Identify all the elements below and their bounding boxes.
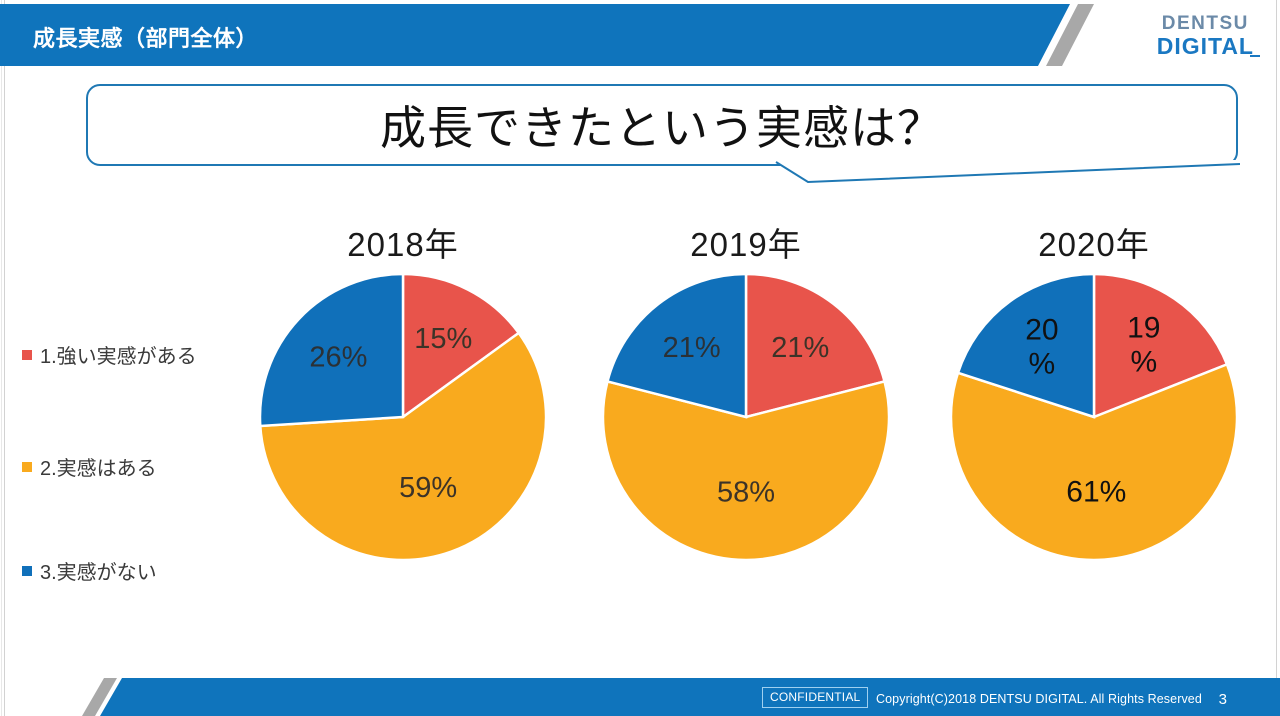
- logo-underline: [1250, 55, 1260, 57]
- legend-swatch-icon-3: [22, 566, 32, 576]
- pie-slice-label: 21%: [663, 332, 721, 364]
- callout-tail: [86, 160, 1240, 190]
- pie-chart-2019: 2019年 21%58%21%: [596, 218, 896, 578]
- chart-title-2019: 2019年: [596, 218, 896, 266]
- legend-label-3: 3.実感がない: [40, 556, 157, 585]
- legend-swatch-icon-1: [22, 350, 32, 360]
- slide-footer: CONFIDENTIAL Copyright(C)2018 DENTSU DIG…: [0, 668, 1280, 716]
- legend-label-2: 2.実感はある: [40, 452, 157, 481]
- legend-item-1[interactable]: 1.強い実感がある: [22, 340, 197, 369]
- page-edge-line-right: [1276, 0, 1277, 716]
- logo-text-digital: DIGITAL: [1157, 35, 1254, 58]
- pie-slice-label: 61%: [1066, 475, 1126, 508]
- slide: 成長実感（部門全体） DENTSU DIGITAL 成長できたという実感は？ 1…: [0, 0, 1280, 716]
- question-callout: 成長できたという実感は？: [86, 84, 1238, 166]
- dentsu-digital-logo: DENTSU DIGITAL: [1157, 14, 1254, 58]
- pie-svg-2018: 15%59%26%: [259, 273, 547, 561]
- chart-title-2018: 2018年: [253, 218, 553, 266]
- pie-canvas-2020: 19%61%20%: [950, 273, 1238, 561]
- page-edge-line-outer: [1, 0, 2, 716]
- pie-slice-label: 26%: [309, 341, 367, 373]
- pie-slice-label: 20%: [1025, 313, 1058, 380]
- slide-header: 成長実感（部門全体） DENTSU DIGITAL: [0, 0, 1280, 72]
- legend-item-3[interactable]: 3.実感がない: [22, 556, 157, 585]
- logo-text-dentsu: DENTSU: [1157, 14, 1254, 33]
- legend-label-1: 1.強い実感がある: [40, 340, 197, 369]
- page-number: 3: [1219, 691, 1227, 708]
- pie-slice-label: 15%: [414, 323, 472, 355]
- chart-title-2020: 2020年: [944, 218, 1244, 266]
- pie-slice-label: 21%: [771, 332, 829, 364]
- page-title: 成長実感（部門全体）: [33, 21, 258, 53]
- pie-svg-2020: 19%61%20%: [950, 273, 1238, 561]
- legend-swatch-icon-2: [22, 462, 32, 472]
- copyright-text: Copyright(C)2018 DENTSU DIGITAL. All Rig…: [876, 692, 1202, 706]
- pie-chart-2020: 2020年 19%61%20%: [944, 218, 1244, 578]
- pie-canvas-2019: 21%58%21%: [602, 273, 890, 561]
- question-text: 成長できたという実感は？: [88, 92, 1236, 158]
- pie-chart-2018: 2018年 15%59%26%: [253, 218, 553, 578]
- pie-canvas-2018: 15%59%26%: [259, 273, 547, 561]
- page-edge-line-left: [4, 0, 5, 716]
- pie-slice-label: 58%: [717, 476, 775, 508]
- legend-item-2[interactable]: 2.実感はある: [22, 452, 157, 481]
- pie-slice-label: 19%: [1127, 312, 1160, 379]
- pie-svg-2019: 21%58%21%: [602, 273, 890, 561]
- confidential-badge: CONFIDENTIAL: [762, 687, 868, 708]
- pie-slice-label: 59%: [399, 472, 457, 504]
